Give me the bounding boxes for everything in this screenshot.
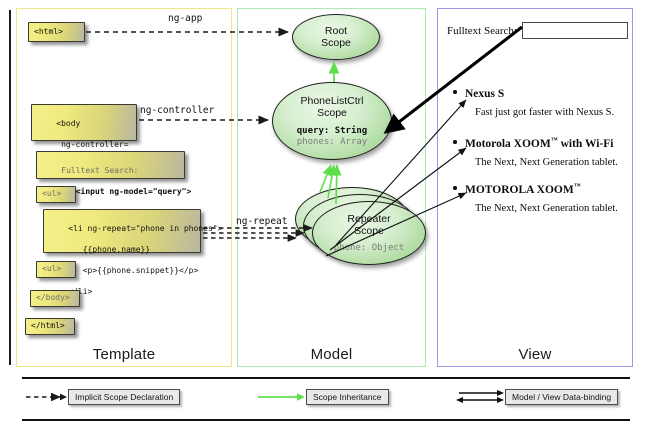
edge-label-ng-controller: ng-controller [140, 105, 214, 116]
phone-snippet: Fast just got faster with Nexus S. [475, 107, 614, 118]
phone-snippet: The Next, Next Generation tablet. [475, 157, 618, 168]
html-close-box: </html> [25, 318, 75, 335]
html-open-box: <html> [28, 22, 85, 42]
edge-label-ng-repeat: ng-repeat [236, 216, 287, 227]
ul-open-box: <ul> [36, 186, 76, 203]
repeater-scope-title-1: Repeater [347, 213, 390, 225]
phone-name-text: Nexus S [465, 88, 504, 100]
list-bullet [453, 186, 457, 190]
phone-name: Nexus S [465, 86, 614, 100]
body-line2: ng-controller= [56, 140, 128, 149]
panel-model-label: Model [238, 346, 425, 363]
phone-name: Motorola XOOM™ with Wi-Fi [465, 136, 618, 150]
repeater-scope: Repeater Scope phone: Object [312, 201, 426, 265]
body-close-box: </body> [30, 290, 80, 307]
list-item: Nexus S Fast just got faster with Nexus … [465, 86, 614, 118]
legend-implicit-scope-declaration-label: Implicit Scope Declaration [68, 389, 180, 405]
view-search-row: Fulltext Search: [447, 22, 628, 39]
repeater-scope-prop-phone: phone: Object [334, 243, 404, 254]
phone-name-suffix: with Wi-Fi [558, 138, 614, 150]
li-repeat-box: <li ng-repeat="phone in phones"> {{phone… [43, 209, 201, 253]
left-rule [9, 10, 11, 365]
ul-close-text: <ul> [42, 264, 61, 275]
phonelistctrl-scope-title-1: PhoneListCtrl [300, 95, 363, 107]
legend-divider-bottom [22, 419, 630, 421]
root-scope-title-1: Root [325, 25, 347, 37]
view-content: Fulltext Search: Nexus S Fast just got f… [437, 8, 633, 367]
legend-scope-inheritance-label: Scope Inheritance [306, 389, 389, 405]
root-scope-title-2: Scope [321, 37, 351, 49]
legend-data-binding: Model / View Data-binding [455, 389, 618, 405]
fulltext-search-input-code: <input ng-model="query"> [61, 187, 191, 196]
list-bullet [453, 140, 457, 144]
fulltext-search-label: Fulltext Search: [61, 166, 138, 175]
phonelistctrl-scope-title-2: Scope [317, 107, 347, 119]
list-item: Motorola XOOM™ with Wi-Fi The Next, Next… [465, 136, 618, 168]
body-close-text: </body> [36, 293, 70, 304]
phone-snippet: The Next, Next Generation tablet. [475, 203, 618, 214]
fulltext-search-box: Fulltext Search: <input ng-model="query"… [36, 151, 185, 179]
legend-green-arrow-icon [258, 391, 306, 403]
li-line2: {{phone.name}} [68, 245, 150, 254]
trademark-icon: ™ [574, 182, 581, 190]
phone-name: MOTOROLA XOOM™ [465, 182, 618, 196]
panel-template-label: Template [17, 346, 231, 363]
view-search-label: Fulltext Search: [447, 25, 517, 37]
legend-scope-inheritance: Scope Inheritance [258, 389, 389, 405]
html-close-text: </html> [31, 321, 65, 332]
legend-implicit-scope-declaration: Implicit Scope Declaration [26, 389, 180, 405]
root-scope: Root Scope [292, 14, 380, 60]
phonelistctrl-scope: PhoneListCtrl Scope query: String phones… [272, 82, 392, 160]
li-line3: <p>{{phone.snippet}}</p> [68, 266, 198, 275]
li-line1: <li ng-repeat="phone in phones"> [68, 224, 222, 233]
phonelistctrl-scope-prop-phones: phones: Array [297, 137, 367, 148]
trademark-icon: ™ [551, 136, 558, 144]
panel-model: Model [237, 8, 426, 367]
phone-name-text: MOTOROLA XOOM [465, 184, 574, 196]
body-box: <body ng-controller= "PhoneListCtrl"> [31, 104, 137, 141]
legend-data-binding-label: Model / View Data-binding [505, 389, 618, 405]
phone-name-text: Motorola XOOM [465, 138, 551, 150]
view-search-input[interactable] [522, 22, 628, 39]
body-line1: <body [56, 119, 80, 128]
legend-dashed-arrow-icon [26, 391, 68, 403]
list-bullet [453, 90, 457, 94]
legend-double-arrow-icon [455, 389, 505, 405]
phonelistctrl-scope-prop-query: query: String [297, 126, 367, 137]
html-open-text: <html> [34, 27, 63, 38]
legend-divider-top [22, 377, 630, 379]
diagram-root: Template Model View <html> <body ng-cont… [0, 0, 645, 425]
ul-open-text: <ul> [42, 189, 61, 200]
ul-close-box: <ul> [36, 261, 76, 278]
list-item: MOTOROLA XOOM™ The Next, Next Generation… [465, 182, 618, 214]
edge-label-ng-app: ng-app [168, 13, 202, 24]
repeater-scope-title-2: Scope [354, 225, 384, 237]
